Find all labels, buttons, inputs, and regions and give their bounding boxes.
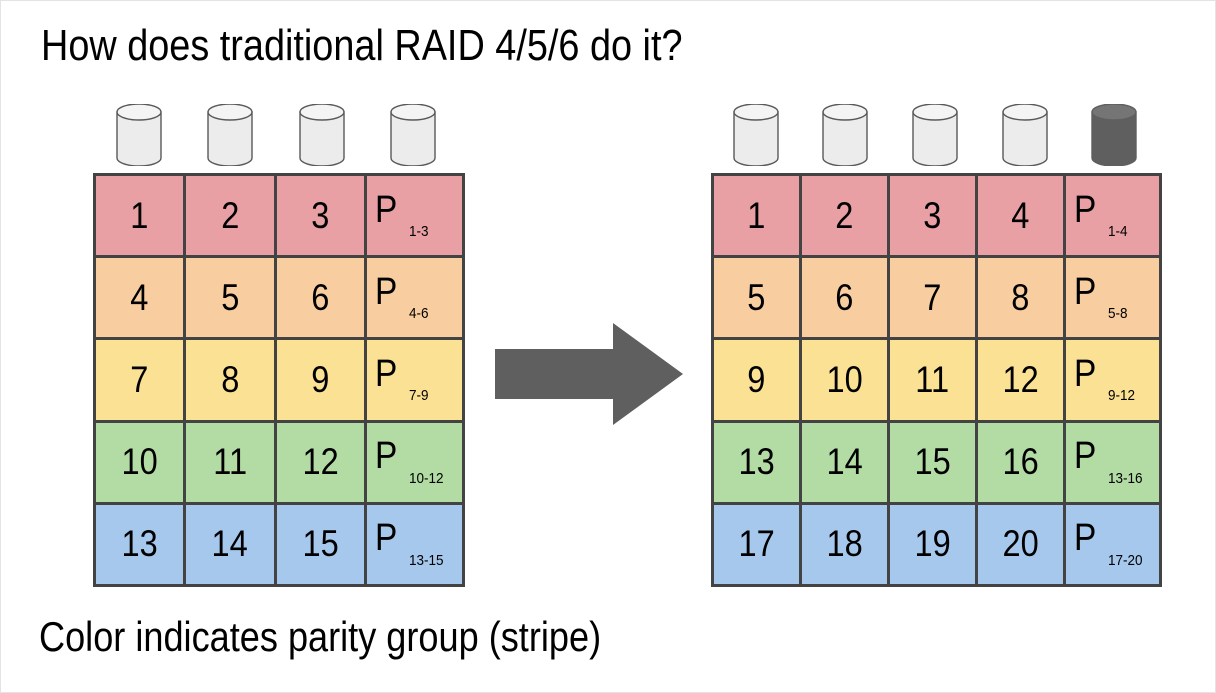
block-number: 4	[1011, 196, 1029, 236]
parity-subscript: 5-8	[1108, 306, 1128, 321]
data-block-cell: 7	[96, 340, 183, 419]
disk-cylinder-icon	[1002, 104, 1048, 171]
data-block-cell: 3	[890, 176, 975, 255]
parity-subscript: 9-12	[1108, 388, 1135, 403]
disk-slot	[93, 101, 185, 171]
parity-label: P	[375, 355, 397, 393]
block-number: 12	[302, 442, 338, 482]
disk-cylinder-icon	[822, 104, 868, 171]
block-number: 8	[221, 360, 239, 400]
stripe-row: 101112P10-12	[96, 423, 462, 502]
data-block-cell: 13	[96, 505, 183, 584]
block-number: 16	[1002, 442, 1038, 482]
data-block-cell: 8	[978, 258, 1063, 337]
stripe-row: 9101112P9-12	[714, 340, 1159, 419]
parity-subscript: 10-12	[409, 471, 444, 486]
parity-label: P	[1074, 355, 1096, 393]
stripe-row: 131415P13-15	[96, 505, 462, 584]
parity-cell: P13-15	[367, 505, 462, 584]
disk-slot	[801, 101, 891, 171]
block-number: 1	[131, 196, 149, 236]
parity-subscript: 1-4	[1108, 224, 1128, 239]
block-number: 9	[747, 360, 765, 400]
arrow-right-icon	[495, 323, 683, 425]
parity-label: P	[1074, 273, 1096, 311]
block-number: 13	[122, 524, 158, 564]
block-number: 5	[221, 278, 239, 318]
block-number: 8	[1011, 278, 1029, 318]
parity-cell: P5-8	[1066, 258, 1159, 337]
data-block-cell: 1	[714, 176, 799, 255]
data-block-cell: 14	[186, 505, 273, 584]
block-number: 9	[311, 360, 329, 400]
parity-subscript: 17-20	[1108, 553, 1143, 568]
disk-cylinder-icon	[912, 104, 958, 171]
block-number: 18	[826, 524, 862, 564]
parity-subscript: 7-9	[409, 388, 429, 403]
parity-subscript: 13-15	[409, 553, 444, 568]
data-block-cell: 2	[186, 176, 273, 255]
disk-cylinder-icon	[390, 104, 436, 171]
disk-row-before	[93, 101, 459, 171]
data-block-cell: 2	[802, 176, 887, 255]
disk-cylinder-new-icon	[1091, 104, 1137, 171]
data-block-cell: 3	[277, 176, 364, 255]
parity-cell: P1-4	[1066, 176, 1159, 255]
data-block-cell: 19	[890, 505, 975, 584]
data-block-cell: 14	[802, 423, 887, 502]
stripe-row: 1234P1-4	[714, 176, 1159, 255]
parity-subscript: 4-6	[409, 306, 429, 321]
disk-slot	[276, 101, 368, 171]
parity-label: P	[1074, 191, 1096, 229]
block-number: 1	[747, 196, 765, 236]
disk-cylinder-icon	[207, 104, 253, 171]
data-block-cell: 10	[96, 423, 183, 502]
parity-cell: P1-3	[367, 176, 462, 255]
disk-slot	[890, 101, 980, 171]
block-number: 19	[914, 524, 950, 564]
data-block-cell: 8	[186, 340, 273, 419]
data-block-cell: 18	[802, 505, 887, 584]
slide-canvas: How does traditional RAID 4/5/6 do it? 1…	[0, 0, 1216, 693]
disk-slot	[185, 101, 277, 171]
block-number: 13	[738, 442, 774, 482]
block-number: 6	[311, 278, 329, 318]
block-number: 2	[221, 196, 239, 236]
parity-cell: P10-12	[367, 423, 462, 502]
block-number: 7	[923, 278, 941, 318]
block-number: 5	[747, 278, 765, 318]
parity-cell: P9-12	[1066, 340, 1159, 419]
raid-grid-after: 1234P1-45678P5-89101112P9-1213141516P13-…	[711, 173, 1162, 587]
data-block-cell: 20	[978, 505, 1063, 584]
data-block-cell: 11	[186, 423, 273, 502]
data-block-cell: 6	[277, 258, 364, 337]
block-number: 10	[122, 442, 158, 482]
data-block-cell: 15	[890, 423, 975, 502]
slide-caption: Color indicates parity group (stripe)	[39, 609, 601, 665]
data-block-cell: 9	[277, 340, 364, 419]
disk-cylinder-icon	[733, 104, 779, 171]
parity-subscript: 1-3	[409, 224, 429, 239]
data-block-cell: 4	[96, 258, 183, 337]
disk-slot	[711, 101, 801, 171]
data-block-cell: 10	[802, 340, 887, 419]
stripe-row: 123P1-3	[96, 176, 462, 255]
data-block-cell: 15	[277, 505, 364, 584]
parity-label: P	[375, 519, 397, 557]
stripe-row: 5678P5-8	[714, 258, 1159, 337]
data-block-cell: 12	[277, 423, 364, 502]
block-number: 17	[738, 524, 774, 564]
data-block-cell: 11	[890, 340, 975, 419]
stripe-row: 789P7-9	[96, 340, 462, 419]
parity-label: P	[375, 437, 397, 475]
data-block-cell: 17	[714, 505, 799, 584]
block-number: 3	[311, 196, 329, 236]
disk-slot	[980, 101, 1070, 171]
block-number: 11	[916, 360, 950, 400]
block-number: 6	[835, 278, 853, 318]
data-block-cell: 16	[978, 423, 1063, 502]
block-number: 12	[1002, 360, 1038, 400]
block-number: 3	[923, 196, 941, 236]
disk-cylinder-icon	[116, 104, 162, 171]
parity-label: P	[1074, 519, 1096, 557]
block-number: 14	[212, 524, 248, 564]
raid-grid-before: 123P1-3456P4-6789P7-9101112P10-12131415P…	[93, 173, 465, 587]
stripe-row: 13141516P13-16	[714, 423, 1159, 502]
page-title: How does traditional RAID 4/5/6 do it?	[41, 17, 683, 75]
data-block-cell: 9	[714, 340, 799, 419]
parity-cell: P4-6	[367, 258, 462, 337]
block-number: 15	[914, 442, 950, 482]
disk-slot	[368, 101, 460, 171]
disk-row-after	[711, 101, 1159, 171]
parity-cell: P13-16	[1066, 423, 1159, 502]
data-block-cell: 12	[978, 340, 1063, 419]
block-number: 11	[213, 442, 247, 482]
parity-label: P	[375, 191, 397, 229]
block-number: 20	[1002, 524, 1038, 564]
data-block-cell: 5	[186, 258, 273, 337]
data-block-cell: 7	[890, 258, 975, 337]
data-block-cell: 1	[96, 176, 183, 255]
parity-cell: P17-20	[1066, 505, 1159, 584]
parity-label: P	[1074, 437, 1096, 475]
block-number: 7	[131, 360, 149, 400]
stripe-row: 456P4-6	[96, 258, 462, 337]
parity-label: P	[375, 273, 397, 311]
disk-cylinder-icon	[299, 104, 345, 171]
block-number: 15	[302, 524, 338, 564]
block-number: 14	[826, 442, 862, 482]
block-number: 4	[131, 278, 149, 318]
data-block-cell: 13	[714, 423, 799, 502]
parity-subscript: 13-16	[1108, 471, 1143, 486]
data-block-cell: 6	[802, 258, 887, 337]
parity-cell: P7-9	[367, 340, 462, 419]
disk-slot	[1069, 101, 1159, 171]
stripe-row: 17181920P17-20	[714, 505, 1159, 584]
block-number: 10	[826, 360, 862, 400]
block-number: 2	[835, 196, 853, 236]
data-block-cell: 4	[978, 176, 1063, 255]
data-block-cell: 5	[714, 258, 799, 337]
